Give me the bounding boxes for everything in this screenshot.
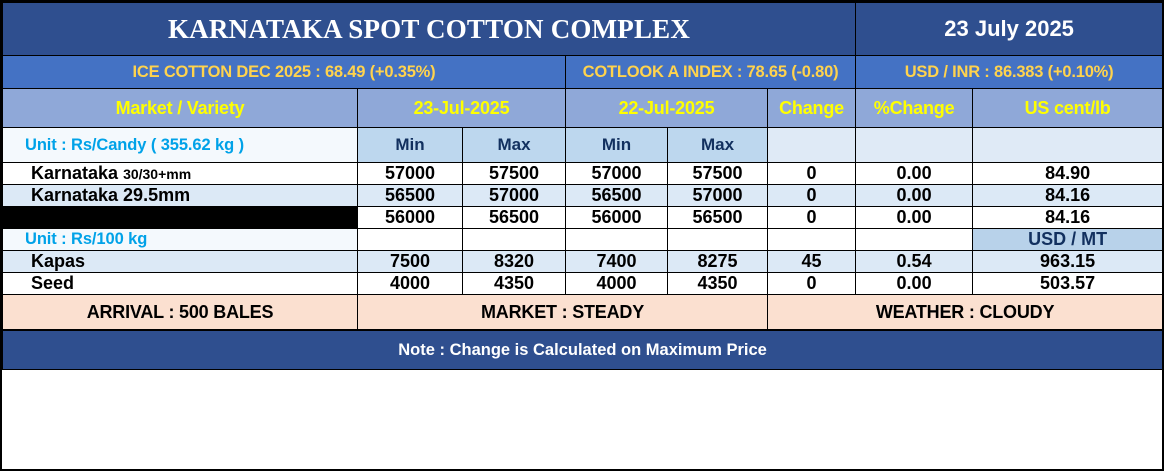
value-prev-min: 56000 bbox=[566, 207, 667, 228]
sub-header-row: Unit : Rs/Candy ( 355.62 kg ) Min Max Mi… bbox=[3, 128, 1163, 163]
unit-kg-spacer-today-min bbox=[358, 229, 463, 251]
unit-kg-spacer-pct-change bbox=[856, 229, 973, 251]
value-converted: 503.57 bbox=[973, 273, 1162, 294]
cell-today-min: 57000 bbox=[358, 163, 463, 185]
ticker-usd-inr-text: USD / INR : 86.383 (+0.10%) bbox=[856, 63, 1162, 82]
ticker-usd-inr: USD / INR : 86.383 (+0.10%) bbox=[856, 56, 1163, 89]
cell-converted: 84.16 bbox=[973, 207, 1163, 229]
table-row: Karnataka 29.5mm 56500 57000 56500 57000… bbox=[3, 185, 1163, 207]
subheader-prev-max: Max bbox=[668, 128, 768, 163]
cell-pct-change: 0.00 bbox=[856, 163, 973, 185]
subheader-today-min-label: Min bbox=[358, 135, 462, 155]
ticker-ice-cotton: ICE COTTON DEC 2025 : 68.49 (+0.35%) bbox=[3, 56, 566, 89]
header-market-variety-label: Market / Variety bbox=[3, 98, 357, 119]
subheader-today-max-label: Max bbox=[463, 135, 565, 155]
value-pct-change: 0.00 bbox=[856, 185, 972, 206]
table-row: 56000 56500 56000 56500 0 0.00 84.16 bbox=[3, 207, 1163, 229]
value-change: 0 bbox=[768, 185, 855, 206]
header-previous-date: 22-Jul-2025 bbox=[566, 89, 768, 128]
board-date-cell: 23 July 2025 bbox=[856, 3, 1163, 56]
value-change: 45 bbox=[768, 251, 855, 272]
cell-prev-min: 56500 bbox=[566, 185, 668, 207]
unit-kg-spacer-today-max bbox=[463, 229, 566, 251]
value-today-min: 4000 bbox=[358, 273, 462, 294]
ticker-row: ICE COTTON DEC 2025 : 68.49 (+0.35%) COT… bbox=[3, 56, 1163, 89]
value-today-min: 56000 bbox=[358, 207, 462, 228]
value-today-max: 57500 bbox=[463, 163, 565, 184]
cell-converted: 84.90 bbox=[973, 163, 1163, 185]
cell-prev-min: 4000 bbox=[566, 273, 668, 295]
cell-today-min: 56000 bbox=[358, 207, 463, 229]
cell-pct-change: 0.00 bbox=[856, 185, 973, 207]
value-prev-min: 56500 bbox=[566, 185, 667, 206]
cell-today-min: 7500 bbox=[358, 251, 463, 273]
value-prev-min: 4000 bbox=[566, 273, 667, 294]
value-today-max: 4350 bbox=[463, 273, 565, 294]
cell-change: 0 bbox=[768, 273, 856, 295]
cell-converted: 963.15 bbox=[973, 251, 1163, 273]
cell-prev-max: 4350 bbox=[668, 273, 768, 295]
value-prev-max: 57500 bbox=[668, 163, 767, 184]
cell-converted: 503.57 bbox=[973, 273, 1163, 295]
status-weather-cell: WEATHER : CLOUDY bbox=[768, 295, 1163, 331]
note-label: Note : Change is Calculated on Maximum P… bbox=[3, 341, 1162, 360]
cell-prev-max: 57000 bbox=[668, 185, 768, 207]
cell-change: 45 bbox=[768, 251, 856, 273]
status-row: ARRIVAL : 500 BALES MARKET : STEADY WEAT… bbox=[3, 295, 1163, 331]
row-label-cell: Karnataka 30/30+mm bbox=[3, 163, 358, 185]
cell-prev-min: 57000 bbox=[566, 163, 668, 185]
cell-prev-min: 7400 bbox=[566, 251, 668, 273]
cell-today-min: 56500 bbox=[358, 185, 463, 207]
value-prev-min: 7400 bbox=[566, 251, 667, 272]
header-pct-change-label: %Change bbox=[856, 98, 972, 119]
value-converted: 84.16 bbox=[973, 185, 1162, 206]
status-arrival-label: ARRIVAL : 500 BALES bbox=[3, 302, 357, 323]
table-row: Seed 4000 4350 4000 4350 0 0.00 503.57 bbox=[3, 273, 1163, 295]
cell-converted: 84.16 bbox=[973, 185, 1163, 207]
board-title-cell: KARNATAKA SPOT COTTON COMPLEX bbox=[3, 3, 856, 56]
cell-today-max: 56500 bbox=[463, 207, 566, 229]
value-prev-max: 4350 bbox=[668, 273, 767, 294]
cell-prev-max: 57500 bbox=[668, 163, 768, 185]
unit-candy-label: Unit : Rs/Candy ( 355.62 kg ) bbox=[3, 136, 358, 155]
header-previous-date-label: 22-Jul-2025 bbox=[566, 98, 767, 119]
value-change: 0 bbox=[768, 207, 855, 228]
row-label-cell: Kapas bbox=[3, 251, 358, 273]
value-converted: 84.16 bbox=[973, 207, 1162, 228]
status-market-label: MARKET : STEADY bbox=[358, 302, 767, 323]
row-label: Kapas bbox=[3, 251, 358, 272]
cell-change: 0 bbox=[768, 185, 856, 207]
price-table: KARNATAKA SPOT COTTON COMPLEX 23 July 20… bbox=[2, 2, 1163, 370]
header-us-cent-lb-label: US cent/lb bbox=[973, 98, 1162, 119]
status-arrival-cell: ARRIVAL : 500 BALES bbox=[3, 295, 358, 331]
header-today-date: 23-Jul-2025 bbox=[358, 89, 566, 128]
subheader-prev-min-label: Min bbox=[566, 135, 667, 155]
unit-kg-row: Unit : Rs/100 kg USD / MT bbox=[3, 229, 1163, 251]
unit-kg-spacer-prev-max bbox=[668, 229, 768, 251]
column-header-row: Market / Variety 23-Jul-2025 22-Jul-2025… bbox=[3, 89, 1163, 128]
value-today-min: 56500 bbox=[358, 185, 462, 206]
subheader-converted-spacer bbox=[973, 128, 1163, 163]
header-change: Change bbox=[768, 89, 856, 128]
value-prev-max: 57000 bbox=[668, 185, 767, 206]
value-converted: 963.15 bbox=[973, 251, 1162, 272]
unit-kg-label: Unit : Rs/100 kg bbox=[3, 230, 358, 249]
cell-prev-max: 8275 bbox=[668, 251, 768, 273]
subheader-today-min: Min bbox=[358, 128, 463, 163]
unit-kg-spacer-prev-min bbox=[566, 229, 668, 251]
row-label-cell: Karnataka 29.5mm bbox=[3, 185, 358, 207]
subheader-pct-change-spacer bbox=[856, 128, 973, 163]
page-title: KARNATAKA SPOT COTTON COMPLEX bbox=[3, 14, 855, 45]
value-today-max: 56500 bbox=[463, 207, 565, 228]
cell-today-min: 4000 bbox=[358, 273, 463, 295]
cell-today-max: 57500 bbox=[463, 163, 566, 185]
status-weather-label: WEATHER : CLOUDY bbox=[768, 302, 1162, 323]
row-label: Seed bbox=[3, 273, 358, 294]
usd-mt-header-cell: USD / MT bbox=[973, 229, 1163, 251]
ticker-ice-cotton-text: ICE COTTON DEC 2025 : 68.49 (+0.35%) bbox=[3, 63, 565, 82]
cell-pct-change: 0.54 bbox=[856, 251, 973, 273]
note-cell: Note : Change is Calculated on Maximum P… bbox=[3, 330, 1163, 370]
usd-mt-label: USD / MT bbox=[973, 229, 1162, 250]
cell-prev-min: 56000 bbox=[566, 207, 668, 229]
value-today-max: 8320 bbox=[463, 251, 565, 272]
value-prev-max: 8275 bbox=[668, 251, 767, 272]
header-pct-change: %Change bbox=[856, 89, 973, 128]
subheader-prev-max-label: Max bbox=[668, 135, 767, 155]
value-pct-change: 0.00 bbox=[856, 163, 972, 184]
table-row: Kapas 7500 8320 7400 8275 45 0.54 963.15 bbox=[3, 251, 1163, 273]
value-pct-change: 0.00 bbox=[856, 273, 972, 294]
row-label: Karnataka 30/30+mm bbox=[3, 163, 358, 184]
unit-kg-spacer-change bbox=[768, 229, 856, 251]
unit-kg-cell: Unit : Rs/100 kg bbox=[3, 229, 358, 251]
status-market-cell: MARKET : STEADY bbox=[358, 295, 768, 331]
ticker-cotlook-index: COTLOOK A INDEX : 78.65 (-0.80) bbox=[566, 56, 856, 89]
header-us-cent-lb: US cent/lb bbox=[973, 89, 1163, 128]
header-change-label: Change bbox=[768, 98, 855, 119]
value-today-min: 57000 bbox=[358, 163, 462, 184]
cell-change: 0 bbox=[768, 163, 856, 185]
report-date: 23 July 2025 bbox=[856, 16, 1162, 42]
cell-today-max: 4350 bbox=[463, 273, 566, 295]
cell-today-max: 57000 bbox=[463, 185, 566, 207]
value-pct-change: 0.00 bbox=[856, 207, 972, 228]
cotton-price-board: KARNATAKA SPOT COTTON COMPLEX 23 July 20… bbox=[0, 0, 1164, 471]
table-row: Karnataka 30/30+mm 57000 57500 57000 575… bbox=[3, 163, 1163, 185]
subheader-today-max: Max bbox=[463, 128, 566, 163]
note-row: Note : Change is Calculated on Maximum P… bbox=[3, 330, 1163, 370]
value-converted: 84.90 bbox=[973, 163, 1162, 184]
header-today-date-label: 23-Jul-2025 bbox=[358, 98, 565, 119]
value-prev-max: 56500 bbox=[668, 207, 767, 228]
value-today-min: 7500 bbox=[358, 251, 462, 272]
row-label-cell: Seed bbox=[3, 273, 358, 295]
title-row: KARNATAKA SPOT COTTON COMPLEX 23 July 20… bbox=[3, 3, 1163, 56]
value-change: 0 bbox=[768, 273, 855, 294]
row-label-main: Karnataka bbox=[31, 163, 118, 183]
value-today-max: 57000 bbox=[463, 185, 565, 206]
value-prev-min: 57000 bbox=[566, 163, 667, 184]
ticker-cotlook-index-text: COTLOOK A INDEX : 78.65 (-0.80) bbox=[566, 63, 855, 82]
cell-pct-change: 0.00 bbox=[856, 273, 973, 295]
value-change: 0 bbox=[768, 163, 855, 184]
cell-today-max: 8320 bbox=[463, 251, 566, 273]
row-label: Karnataka 29.5mm bbox=[3, 185, 358, 206]
subheader-change-spacer bbox=[768, 128, 856, 163]
value-pct-change: 0.54 bbox=[856, 251, 972, 272]
header-market-variety: Market / Variety bbox=[3, 89, 358, 128]
row-label-sub: 30/30+mm bbox=[123, 166, 191, 182]
unit-candy-cell: Unit : Rs/Candy ( 355.62 kg ) bbox=[3, 128, 358, 163]
subheader-prev-min: Min bbox=[566, 128, 668, 163]
cell-pct-change: 0.00 bbox=[856, 207, 973, 229]
cell-change: 0 bbox=[768, 207, 856, 229]
cell-prev-max: 56500 bbox=[668, 207, 768, 229]
row-label-cell-redacted bbox=[3, 207, 358, 229]
